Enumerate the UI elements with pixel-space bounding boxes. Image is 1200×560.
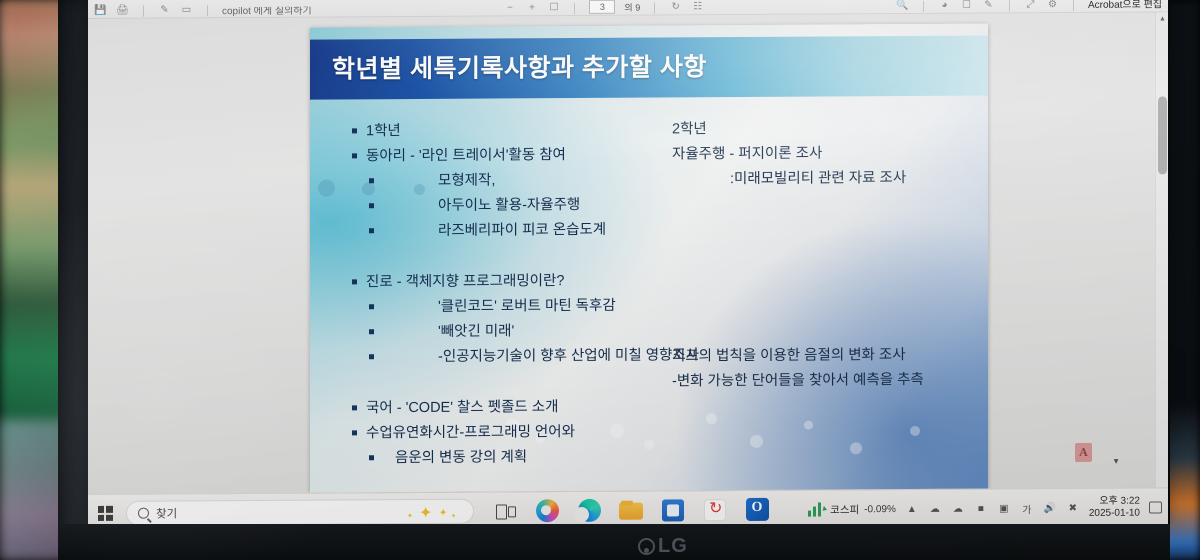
stock-name: 코스피 — [830, 502, 859, 517]
network-offline-icon[interactable]: ✖ — [1066, 501, 1080, 515]
list-item-label: 동아리 - '라인 트레이서'활동 참여 — [366, 143, 566, 169]
toolbar-divider — [574, 3, 575, 14]
list-item: 1학년 — [352, 117, 682, 144]
bullet-marker — [352, 405, 357, 410]
right-column-line: :미래모빌리티 관련 자료 조사 — [672, 166, 972, 193]
task-view-icon — [496, 503, 515, 518]
decorative-circle — [318, 179, 335, 196]
windows-logo-icon — [98, 506, 113, 521]
bullet-marker — [369, 228, 374, 233]
list-item-label: 아두이노 활용-자율주행 — [383, 193, 580, 219]
zoom-out-icon[interactable]: − — [503, 1, 516, 14]
list-item-label: 진로 - 객체지향 프로그래밍이란? — [366, 269, 564, 295]
print-icon[interactable]: 🖨 — [116, 4, 129, 17]
section-gap — [352, 242, 682, 270]
bullet-marker — [369, 455, 374, 460]
outlook-button[interactable] — [744, 496, 770, 522]
section-gap — [672, 243, 972, 271]
store-icon — [662, 499, 684, 521]
stock-chart-icon: ▴ — [808, 502, 825, 516]
zoom-in-icon[interactable]: + — [525, 1, 538, 14]
cloud-icon[interactable]: ☁ — [951, 502, 965, 516]
bullet-marker — [352, 430, 357, 435]
scroll-up-icon[interactable]: ▲ — [1156, 12, 1168, 25]
list-item-label: -인공지능기술이 향후 산업에 미칠 영향조사 — [383, 343, 699, 370]
right-column-line: 2학년 — [672, 116, 972, 143]
pdf-workspace: 학년별 세특기록사항과 추가할 사항 1학년 — [88, 12, 1168, 494]
list-item: 동아리 - '라인 트레이서'활동 참여 — [352, 142, 682, 169]
store-button[interactable] — [660, 497, 686, 523]
stock-widget[interactable]: ▴ 코스피 -0.09% — [808, 502, 896, 518]
bullet-marker — [352, 153, 357, 158]
read-aloud-icon[interactable]: ◕ — [938, 0, 951, 12]
draw-icon[interactable]: ✎ — [158, 3, 171, 16]
section-gap — [352, 368, 682, 396]
toolbar-divider — [1073, 0, 1074, 11]
search-placeholder: 찾기 — [156, 505, 177, 521]
list-item-label: 국어 - 'CODE' 찰스 펫졸드 소개 — [366, 395, 558, 421]
annotate-icon[interactable]: ✎ — [982, 0, 995, 12]
rotate-icon[interactable]: ↻ — [669, 0, 682, 13]
task-view-button[interactable] — [492, 498, 518, 524]
list-item-label: 수업유연화시간-프로그래밍 언어와 — [366, 420, 575, 446]
toolbar-divider — [207, 5, 208, 16]
decorative-circle — [804, 421, 813, 430]
toolbar-divider — [143, 6, 144, 17]
toolbar-divider — [923, 1, 924, 12]
decorative-circle — [910, 426, 920, 436]
lg-brand-text: LG — [658, 535, 688, 558]
toolbar-divider — [654, 3, 655, 14]
sparkle-icon: ✦ ✦ ✦ ✦ — [399, 503, 459, 522]
page-view-icon[interactable]: ☷ — [691, 0, 704, 13]
page-total-label: 의 9 — [624, 1, 640, 14]
list-item-label: 1학년 — [366, 119, 401, 144]
search-icon[interactable]: 🔍 — [896, 0, 909, 12]
battery-icon[interactable]: ■ — [974, 502, 988, 516]
decorative-circle — [706, 413, 717, 424]
list-item-label: 음운의 변동 강의 계획 — [383, 445, 527, 471]
file-explorer-button[interactable] — [618, 497, 644, 523]
section-gap — [672, 217, 972, 245]
list-item: 음운의 변동 강의 계획 — [352, 444, 682, 471]
add-notes-icon[interactable]: ☐ — [960, 0, 973, 12]
copilot-query-label[interactable]: copilot 에게 질의하기 — [222, 7, 312, 17]
chevron-down-icon[interactable]: ▼ — [1112, 457, 1120, 466]
toolbar-divider — [1009, 0, 1010, 11]
slide-right-column: 2학년 자율주행 - 퍼지이론 조사 :미래모빌리티 관련 자료 조사 지프의 … — [672, 116, 972, 395]
acrobat-logo-icon[interactable]: A — [1075, 443, 1092, 462]
slide-left-column: 1학년 동아리 - '라인 트레이서'활동 참여 모형제작, 아두이노 활용-자… — [352, 117, 682, 471]
bullet-marker — [369, 329, 374, 334]
list-item: '빼앗긴 미래' — [352, 318, 682, 345]
list-item: 모형제작, — [352, 167, 682, 194]
stock-change: -0.09% — [864, 504, 896, 515]
section-gap — [672, 269, 972, 297]
volume-icon[interactable]: 🔊 — [1043, 501, 1057, 515]
fit-page-icon[interactable]: ☐ — [547, 1, 560, 14]
copilot-button[interactable] — [534, 498, 560, 524]
decorative-circle — [850, 442, 862, 454]
copilot-icon — [536, 499, 559, 522]
clock-time: 오후 3:22 — [1089, 496, 1140, 508]
bullet-marker — [369, 178, 374, 183]
system-tray: ▴ 코스피 -0.09% ▲ ☁ ☁ ■ ▣ 가 🔊 ✖ 오후 3:22 202… — [808, 488, 1162, 528]
show-hidden-icons-icon[interactable]: ▲ — [905, 502, 919, 516]
slide-page: 학년별 세특기록사항과 추가할 사항 1학년 — [310, 24, 988, 493]
highlight-icon[interactable]: ▭ — [180, 3, 193, 16]
photo-of-laptop-screen: 💾 🖨 ✎ ▭ copilot 에게 질의하기 − + ☐ 3 의 9 ↻ ☷ — [0, 0, 1200, 560]
acrobat-edit-button[interactable]: Acrobat으로 편집 — [1088, 0, 1162, 11]
keyboard-layout-icon[interactable]: 가 — [1020, 501, 1034, 515]
lg-ring-icon — [638, 538, 655, 555]
search-input[interactable]: 찾기 ✦ ✦ ✦ ✦ — [126, 499, 474, 526]
lg-brand-logo: LG — [638, 532, 728, 560]
list-item: '클린코드' 로버트 마틴 독후감 — [352, 293, 682, 320]
section-gap — [672, 191, 972, 219]
list-item: -인공지능기술이 향후 산업에 미칠 영향조사 — [352, 343, 682, 370]
list-item: 수업유연화시간-프로그래밍 언어와 — [352, 419, 682, 446]
bullet-marker — [352, 128, 357, 133]
save-icon[interactable]: 💾 — [94, 4, 107, 17]
right-column-line: -변화 가능한 단어들을 찾아서 예측을 추측 — [672, 368, 972, 395]
bullet-marker — [369, 354, 374, 359]
scrollbar-thumb[interactable] — [1158, 96, 1167, 174]
toolbar-spacer — [704, 12, 896, 13]
laptop-screen: 💾 🖨 ✎ ▭ copilot 에게 질의하기 − + ☐ 3 의 9 ↻ ☷ — [88, 0, 1168, 532]
right-column-line: 자율주행 - 퍼지이론 조사 — [672, 141, 972, 168]
page-number-input[interactable]: 3 — [589, 0, 615, 14]
edge-button[interactable] — [576, 497, 602, 523]
taskbar-apps — [492, 496, 770, 524]
search-icon — [138, 508, 149, 519]
toolbar-spacer — [312, 14, 504, 15]
list-item-label: '클린코드' 로버트 마틴 독후감 — [383, 294, 616, 320]
list-item: 라즈베리파이 피코 온습도계 — [352, 217, 682, 244]
sync-button[interactable] — [702, 497, 728, 523]
list-item-label: '빼앗긴 미래' — [383, 319, 514, 345]
list-item-label: 라즈베리파이 피코 온습도계 — [383, 218, 606, 244]
right-column-line: 지프의 법칙을 이용한 음절의 변화 조사 — [672, 343, 972, 370]
ime-indicator-icon[interactable]: ▣ — [997, 501, 1011, 515]
bullet-marker — [352, 279, 357, 284]
outlook-icon — [746, 498, 769, 521]
notification-center-icon[interactable] — [1149, 501, 1162, 513]
onedrive-icon[interactable]: ☁ — [928, 502, 942, 516]
list-item: 아두이노 활용-자율주행 — [352, 192, 682, 219]
section-gap — [672, 321, 972, 345]
expand-icon[interactable]: ⤢ — [1024, 0, 1037, 11]
clock-date: 2025-01-10 — [1089, 508, 1140, 520]
decorative-circle — [750, 435, 763, 448]
section-gap — [672, 295, 972, 323]
list-item: 국어 - 'CODE' 찰스 펫졸드 소개 — [352, 394, 682, 421]
laptop-bottom-bezel — [58, 524, 1170, 560]
edge-icon — [578, 499, 601, 522]
vertical-scrollbar[interactable]: ▲ — [1155, 12, 1168, 487]
sync-icon — [704, 499, 726, 521]
folder-icon — [619, 500, 643, 520]
bullet-marker — [369, 203, 374, 208]
settings-icon[interactable]: ⚙ — [1046, 0, 1059, 11]
clock[interactable]: 오후 3:22 2025-01-10 — [1089, 496, 1140, 520]
page-title: 학년별 세특기록사항과 추가할 사항 — [332, 46, 952, 86]
list-item: 진로 - 객체지향 프로그래밍이란? — [352, 268, 682, 295]
bullet-marker — [369, 304, 374, 309]
list-item-label: 모형제작, — [383, 169, 495, 195]
